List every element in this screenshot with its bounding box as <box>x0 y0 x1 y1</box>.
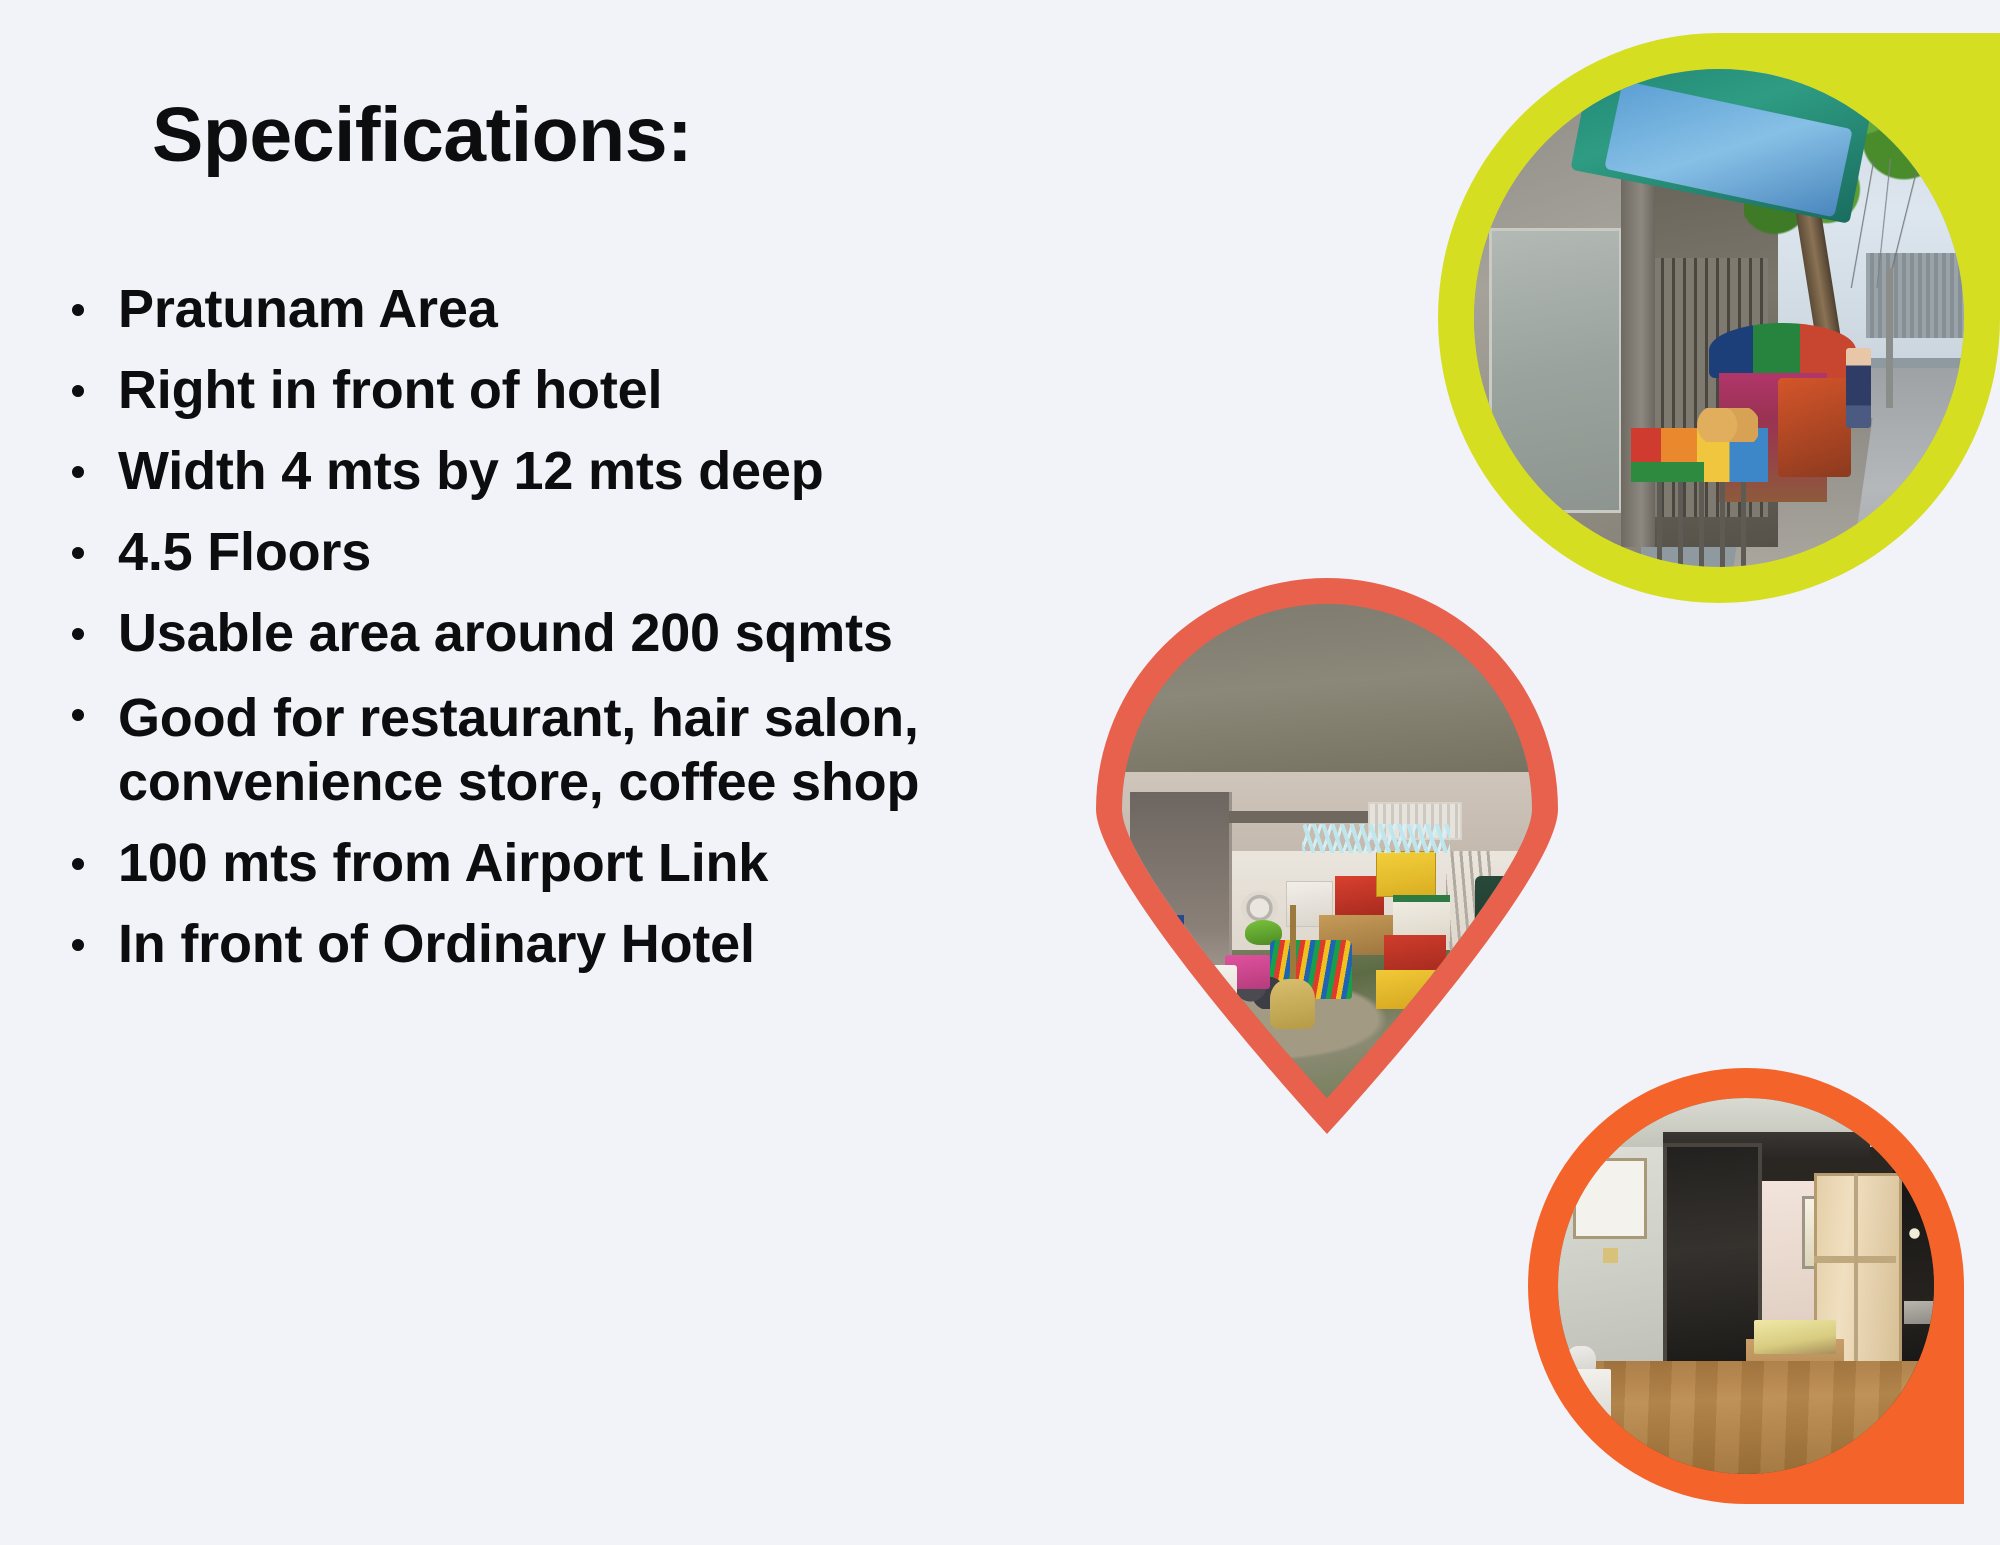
list-item-label: 4.5 Floors <box>118 525 1152 579</box>
list-item: In front of Ordinary Hotel <box>62 917 1152 971</box>
list-item-label: Right in front of hotel <box>118 363 1152 417</box>
pedestrian <box>1846 348 1871 428</box>
red-box-lower <box>1384 935 1446 975</box>
photo-frame-upper-floor-room <box>1528 1068 1964 1504</box>
wall-rail <box>1229 811 1377 823</box>
laminate-floor <box>1558 1361 1934 1474</box>
straw-broom <box>1270 979 1315 1028</box>
specifications-list: Pratunam Area Right in front of hotel Wi… <box>62 282 1152 998</box>
utility-pole <box>1886 268 1894 407</box>
bread-display <box>1690 408 1759 443</box>
list-item-label: In front of Ordinary Hotel <box>118 917 1152 971</box>
slide-canvas: Specifications: Pratunam Area Right in f… <box>0 0 2000 1545</box>
list-item-label: Good for restaurant, hair salon, conveni… <box>118 687 1152 814</box>
list-item: Usable area around 200 sqmts <box>62 606 1152 660</box>
yellow-box-upper <box>1376 851 1435 897</box>
bullet-icon <box>72 858 84 870</box>
sink <box>1904 1301 1934 1324</box>
vendor-table-edge <box>1631 462 1705 482</box>
bullet-icon <box>72 385 84 397</box>
list-item: Pratunam Area <box>62 282 1152 336</box>
bed-base <box>1754 1320 1837 1354</box>
photo-street-shopfront <box>1474 69 1964 567</box>
glass-shopfront-door <box>1489 228 1622 513</box>
table-legs <box>1641 482 1759 567</box>
overhead-wires <box>1768 159 1964 288</box>
bullet-icon <box>72 466 84 478</box>
redaction-scribble <box>1302 824 1450 854</box>
bullet-icon <box>72 628 84 640</box>
bullet-icon <box>72 939 84 951</box>
bullet-icon <box>72 547 84 559</box>
list-item-label: 100 mts from Airport Link <box>118 836 1152 890</box>
text-column: Specifications: Pratunam Area Right in f… <box>0 0 1160 1545</box>
vendor-umbrella <box>1709 323 1856 378</box>
bullet-icon <box>72 304 84 316</box>
bullet-icon <box>72 709 84 721</box>
parked-motorbike <box>1778 378 1852 478</box>
list-item: 100 mts from Airport Link <box>62 836 1152 890</box>
light-reflection <box>1908 1226 1921 1241</box>
washing-machine <box>1558 1369 1611 1429</box>
photo-upper-floor-room <box>1558 1098 1934 1474</box>
list-item: Right in front of hotel <box>62 363 1152 417</box>
light-switch <box>1603 1248 1618 1263</box>
wardrobe-center-seam <box>1854 1173 1859 1384</box>
photo-frame-ground-floor-storage <box>1096 578 1558 1134</box>
list-item-label: Usable area around 200 sqmts <box>118 606 1152 660</box>
photo-frame-street-shopfront <box>1438 33 2000 603</box>
list-item: Width 4 mts by 12 mts deep <box>62 444 1152 498</box>
list-item: Good for restaurant, hair salon, conveni… <box>62 687 1152 814</box>
list-item-label: Pratunam Area <box>118 282 1152 336</box>
photo-ground-floor-storage <box>1122 604 1532 1098</box>
list-item-label: Width 4 mts by 12 mts deep <box>118 444 1152 498</box>
list-item: 4.5 Floors <box>62 525 1152 579</box>
wall-whiteboard <box>1573 1158 1647 1239</box>
page-title: Specifications: <box>152 95 692 176</box>
